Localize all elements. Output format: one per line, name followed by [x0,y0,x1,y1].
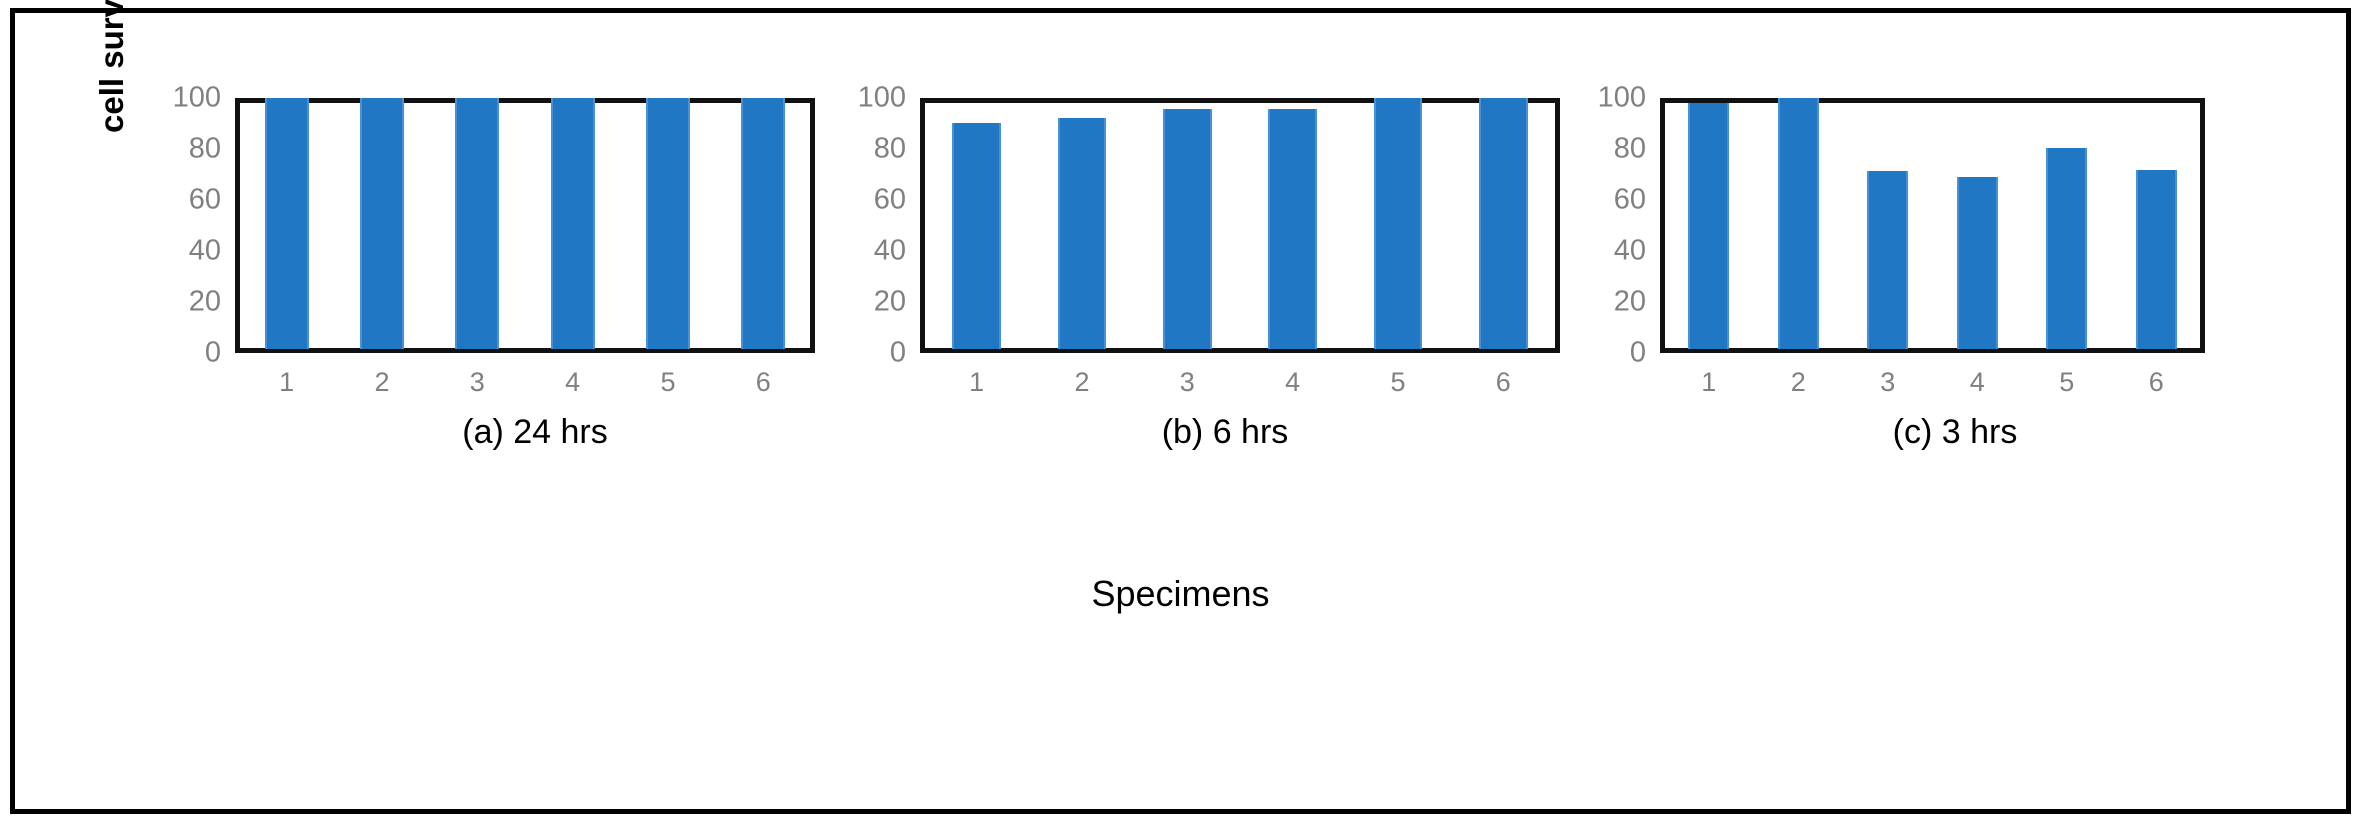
bar-slot [1451,98,1556,349]
bar-slot [2022,98,2112,349]
bar [360,98,404,349]
x-tick-label: 4 [525,353,620,403]
bar [1867,171,1908,349]
y-tick-label: 20 [189,286,221,319]
panel-caption-b: (b) 6 hrs [815,413,1595,452]
bar [646,98,690,349]
x-axis-a: 123456 [239,353,811,403]
y-tick-label: 60 [1614,184,1646,217]
bar-group-a [239,98,811,349]
bar [1163,109,1211,349]
x-tick-label: 5 [620,353,715,403]
bar [455,98,499,349]
x-tick-label: 2 [1029,353,1134,403]
y-tick-label: 80 [874,133,906,166]
bar [1268,109,1316,349]
x-tick-label: 4 [1933,353,2023,403]
figure-frame: cell survival rate(%) 020406080100 12345… [10,8,2351,814]
bar [1957,177,1998,349]
bar-slot [1135,98,1240,349]
x-tick-label: 3 [1135,353,1240,403]
bar-slot [1345,98,1450,349]
bar-slot [716,98,811,349]
bar-group-c [1664,98,2201,349]
x-axis-title: Specimens [15,573,2346,615]
y-axis-c: 020406080100 [1582,98,1652,353]
x-tick-label: 3 [430,353,525,403]
bar [265,98,309,349]
bar [2046,148,2087,349]
y-tick-label: 100 [1598,82,1646,115]
bar-slot [924,98,1029,349]
y-tick-label: 20 [1614,286,1646,319]
plot-area-a: 020406080100 123456 [235,98,815,353]
y-axis-b: 020406080100 [842,98,912,353]
x-tick-label: 6 [1451,353,1556,403]
y-tick-label: 40 [874,235,906,268]
x-tick-label: 5 [1345,353,1450,403]
bar [1374,98,1422,349]
bar [2136,170,2177,349]
x-axis-b: 123456 [924,353,1556,403]
x-tick-label: 4 [1240,353,1345,403]
y-tick-label: 60 [189,184,221,217]
x-tick-label: 6 [716,353,811,403]
x-tick-label: 3 [1843,353,1933,403]
y-tick-label: 40 [189,235,221,268]
x-tick-label: 1 [1664,353,1754,403]
y-tick-label: 100 [858,82,906,115]
bar [1688,103,1729,349]
bar [1778,98,1819,349]
bar-slot [1843,98,1933,349]
bar-slot [2112,98,2202,349]
bar-slot [1029,98,1134,349]
x-tick-label: 5 [2022,353,2112,403]
y-tick-label: 0 [205,337,221,370]
x-tick-label: 2 [334,353,429,403]
bar-slot [334,98,429,349]
bar-slot [430,98,525,349]
bar [1479,98,1527,349]
panel-caption-a: (a) 24 hrs [75,413,905,452]
bar-slot [239,98,334,349]
bar [551,98,595,349]
bar-slot [1664,98,1754,349]
panel-caption-c: (c) 3 hrs [1555,413,2335,452]
y-tick-label: 0 [890,337,906,370]
bar-slot [1240,98,1345,349]
bar-group-b [924,98,1556,349]
bar-slot [1754,98,1844,349]
y-axis-title: cell survival rate(%) [93,0,133,133]
y-tick-label: 20 [874,286,906,319]
x-tick-label: 1 [239,353,334,403]
x-tick-label: 1 [924,353,1029,403]
y-tick-label: 80 [189,133,221,166]
y-tick-label: 40 [1614,235,1646,268]
bar [741,98,785,349]
y-tick-label: 80 [1614,133,1646,166]
x-axis-c: 123456 [1664,353,2201,403]
x-tick-label: 2 [1754,353,1844,403]
bar-slot [525,98,620,349]
y-axis-a: 020406080100 [157,98,227,353]
y-tick-label: 100 [173,82,221,115]
bar [952,123,1000,349]
y-tick-label: 60 [874,184,906,217]
y-tick-label: 0 [1630,337,1646,370]
bar-slot [620,98,715,349]
plot-area-b: 020406080100 123456 [920,98,1560,353]
plot-area-c: 020406080100 123456 [1660,98,2205,353]
bar-slot [1933,98,2023,349]
bar [1058,118,1106,349]
x-tick-label: 6 [2112,353,2202,403]
